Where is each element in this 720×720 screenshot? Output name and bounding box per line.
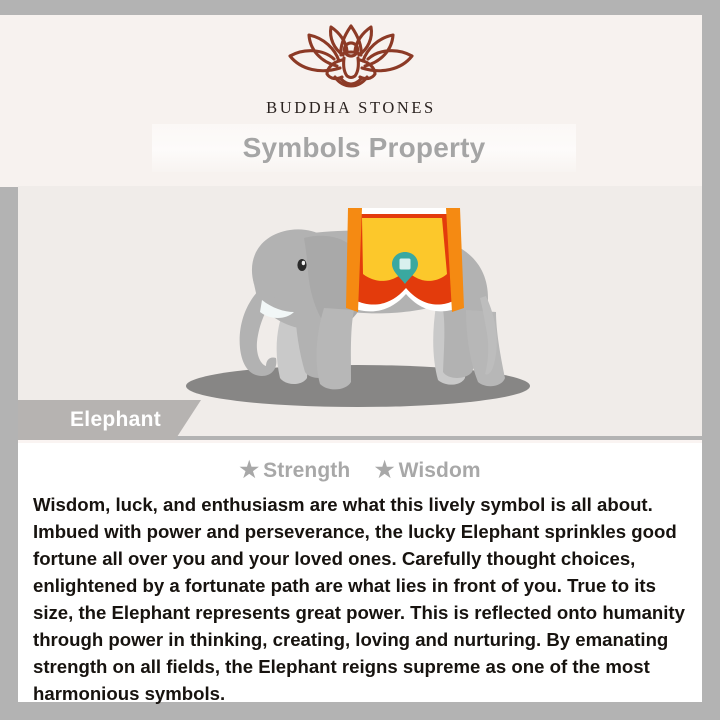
ribbon-body: Elephant [18,400,175,440]
symbols-property-infographic: BUDDHA STONES Symbols Property [0,0,720,720]
elephant-illustration [18,186,702,436]
star-icon: ★ [375,457,395,482]
elephant-artwork [18,186,702,436]
brand-logo: BUDDHA STONES [0,22,702,118]
traits-row: ★Strength ★Wisdom [18,457,702,483]
elephant-eye [297,259,306,271]
ribbon-tail [175,400,201,440]
elephant-eye-highlight [302,261,305,265]
title-banner: Symbols Property [152,124,576,172]
brand-name: BUDDHA STONES [0,98,702,118]
trait-wisdom: ★Wisdom [375,457,481,483]
saddle-gem-center [400,259,411,270]
lotus-meditation-icon [277,22,425,94]
elephant-trunk [240,290,277,376]
frame-top-edge [0,0,720,15]
frame-left-edge [0,186,18,720]
symbol-description: Wisdom, luck, and enthusiasm are what th… [33,491,690,707]
trait-strength: ★Strength [239,457,350,483]
trait-wisdom-label: Wisdom [399,459,481,482]
star-icon: ★ [239,457,259,482]
frame-right-edge [702,0,720,720]
description-panel: ★Strength ★Wisdom Wisdom, luck, and enth… [18,440,702,702]
trait-strength-label: Strength [263,459,350,482]
symbol-name: Elephant [70,408,161,432]
symbol-name-ribbon: Elephant [18,400,201,440]
page-title: Symbols Property [243,132,486,164]
